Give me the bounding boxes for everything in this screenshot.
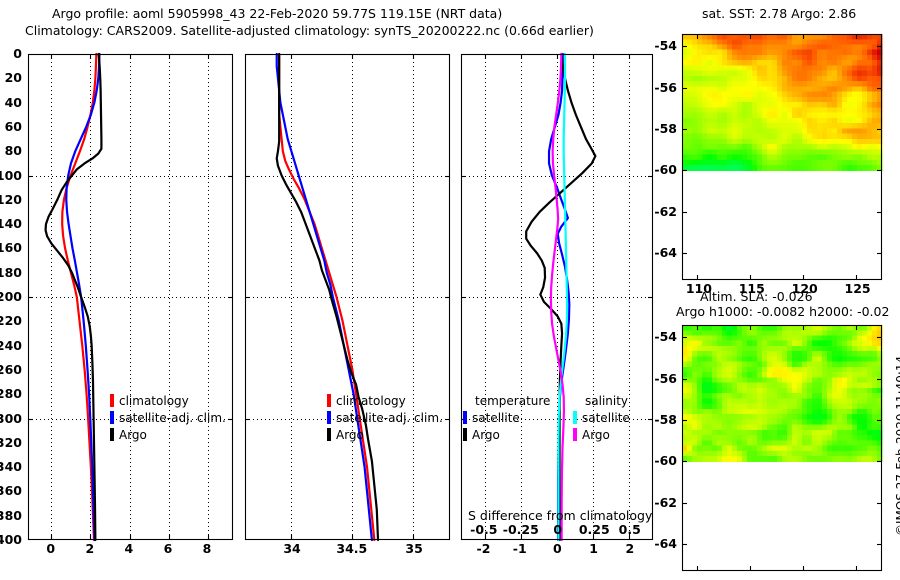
map-cell (767, 97, 773, 103)
map-cell (737, 435, 743, 441)
map-cell (807, 92, 813, 98)
map-cell (832, 118, 838, 124)
sla-map-title-line2: Argo h1000: -0.0082 h2000: -0.02 (676, 304, 889, 319)
map-cell (862, 92, 868, 98)
map-cell (852, 451, 858, 457)
x-tick-label: 34 (283, 541, 300, 556)
map-cell (702, 81, 708, 87)
map-cell (712, 356, 718, 362)
map-cell (742, 113, 748, 119)
map-cell (837, 367, 843, 373)
map-cell (692, 144, 698, 150)
map-cell (737, 398, 743, 404)
map-cell (772, 414, 778, 420)
map-cell (727, 139, 733, 145)
map-cell (757, 39, 763, 45)
map-cell (752, 425, 758, 431)
map-cell (847, 388, 853, 394)
map-cell (872, 113, 878, 119)
map-cell (717, 330, 723, 336)
map-cell (747, 336, 753, 342)
map-cell (872, 393, 878, 399)
map-cell (852, 160, 858, 166)
map-cell (687, 160, 693, 166)
map-y-tick-label: -60 (654, 453, 677, 468)
map-cell (872, 60, 878, 66)
map-cell (712, 160, 718, 166)
map-cell (827, 155, 833, 161)
map-cell (762, 388, 768, 394)
map-cell (692, 330, 698, 336)
map-cell (707, 456, 713, 462)
map-cell (787, 356, 793, 362)
map-cell (777, 388, 783, 394)
map-cell (697, 430, 703, 436)
map-cell (752, 456, 758, 462)
map-cell (832, 388, 838, 394)
map-cell (807, 383, 813, 389)
map-cell (687, 388, 693, 394)
sst-map-title: sat. SST: 2.78 Argo: 2.86 (702, 6, 856, 21)
map-cell (827, 425, 833, 431)
map-cell (727, 118, 733, 124)
map-cell (862, 398, 868, 404)
map-cell (862, 81, 868, 87)
map-cell (762, 346, 768, 352)
map-cell (802, 39, 808, 45)
map-cell (857, 372, 863, 378)
map-cell (722, 393, 728, 399)
map-cell (687, 419, 693, 425)
map-cell (867, 456, 873, 462)
map-cell (802, 55, 808, 61)
map-cell (737, 50, 743, 56)
map-cell (852, 398, 858, 404)
map-cell (767, 102, 773, 108)
map-cell (812, 336, 818, 342)
map-cell (832, 398, 838, 404)
page-title-line2: Climatology: CARS2009. Satellite-adjuste… (25, 23, 594, 38)
map-cell (802, 60, 808, 66)
map-cell (797, 60, 803, 66)
map-cell (872, 372, 878, 378)
map-cell (742, 65, 748, 71)
map-cell (712, 351, 718, 357)
map-cell (812, 97, 818, 103)
map-cell (782, 113, 788, 119)
map-cell (832, 351, 838, 357)
map-cell (712, 113, 718, 119)
map-cell (702, 165, 708, 171)
map-cell (687, 45, 693, 51)
map-cell (732, 65, 738, 71)
map-cell (707, 60, 713, 66)
map-cell (802, 160, 808, 166)
map-cell (772, 446, 778, 452)
map-cell (772, 134, 778, 140)
map-cell (697, 336, 703, 342)
map-cell (757, 393, 763, 399)
map-cell (842, 39, 848, 45)
map-cell (827, 113, 833, 119)
map-cell (697, 76, 703, 82)
map-cell (772, 383, 778, 389)
map-cell (837, 430, 843, 436)
map-cell (817, 440, 823, 446)
map-cell (747, 165, 753, 171)
map-cell (797, 367, 803, 373)
map-cell (812, 430, 818, 436)
map-cell (862, 144, 868, 150)
map-cell (872, 45, 878, 51)
map-cell (727, 86, 733, 92)
map-cell (837, 123, 843, 129)
map-cell (847, 404, 853, 410)
map-cell (822, 425, 828, 431)
map-cell (767, 446, 773, 452)
map-cell (797, 71, 803, 77)
map-cell (812, 356, 818, 362)
page-title-line1: Argo profile: aoml 5905998_43 22-Feb-202… (52, 6, 502, 21)
map-cell (832, 160, 838, 166)
map-cell (717, 160, 723, 166)
map-cell (837, 372, 843, 378)
map-cell (807, 160, 813, 166)
y-tick-label: 140 (0, 216, 22, 231)
map-cell (782, 336, 788, 342)
map-cell (717, 351, 723, 357)
map-cell (792, 128, 798, 134)
map-cell (862, 50, 868, 56)
map-cell (692, 456, 698, 462)
map-cell (847, 123, 853, 129)
map-cell (772, 97, 778, 103)
map-cell (737, 377, 743, 383)
map-cell (727, 362, 733, 368)
map-cell (847, 383, 853, 389)
map-cell (812, 113, 818, 119)
legend-item: satellite-adj. clim. (327, 411, 443, 425)
map-cell (872, 435, 878, 441)
map-cell (872, 446, 878, 452)
map-cell (697, 139, 703, 145)
map-cell (852, 356, 858, 362)
map-cell (787, 123, 793, 129)
map-cell (852, 377, 858, 383)
map-cell (847, 336, 853, 342)
map-cell (802, 430, 808, 436)
map-cell (732, 60, 738, 66)
map-cell (872, 451, 878, 457)
map-cell (842, 144, 848, 150)
map-cell (797, 341, 803, 347)
legend-color-swatch (110, 428, 114, 441)
map-cell (817, 139, 823, 145)
map-cell (752, 330, 758, 336)
map-cell (787, 107, 793, 113)
map-cell (697, 341, 703, 347)
map-cell (737, 356, 743, 362)
map-cell (807, 65, 813, 71)
map-cell (787, 388, 793, 394)
map-cell (702, 60, 708, 66)
map-cell (812, 419, 818, 425)
map-cell (702, 113, 708, 119)
map-cell (722, 128, 728, 134)
map-cell (782, 383, 788, 389)
map-cell (852, 165, 858, 171)
map-cell (822, 149, 828, 155)
map-cell (757, 65, 763, 71)
map-cell (772, 367, 778, 373)
map-cell (707, 81, 713, 87)
map-cell (702, 388, 708, 394)
map-cell (687, 330, 693, 336)
map-cell (722, 425, 728, 431)
map-cell (762, 419, 768, 425)
map-cell (867, 65, 873, 71)
map-cell (807, 123, 813, 129)
map-cell (812, 92, 818, 98)
map-cell (812, 149, 818, 155)
map-cell (757, 356, 763, 362)
map-cell (872, 76, 878, 82)
map-cell (802, 362, 808, 368)
map-cell (722, 372, 728, 378)
map-cell (787, 165, 793, 171)
map-cell (742, 45, 748, 51)
map-cell (732, 81, 738, 87)
map-cell (867, 383, 873, 389)
map-cell (852, 446, 858, 452)
map-cell (847, 393, 853, 399)
map-cell (752, 398, 758, 404)
map-cell (847, 76, 853, 82)
map-cell (717, 341, 723, 347)
map-cell (812, 341, 818, 347)
map-cell (712, 430, 718, 436)
map-cell (687, 398, 693, 404)
map-cell (792, 388, 798, 394)
map-cell (767, 435, 773, 441)
map-cell (817, 435, 823, 441)
map-cell (827, 92, 833, 98)
map-cell (762, 118, 768, 124)
map-cell (807, 118, 813, 124)
map-cell (762, 440, 768, 446)
map-cell (832, 144, 838, 150)
map-cell (757, 139, 763, 145)
map-cell (777, 430, 783, 436)
map-cell (717, 372, 723, 378)
map-cell (762, 65, 768, 71)
map-cell (772, 356, 778, 362)
map-cell (737, 330, 743, 336)
map-cell (817, 341, 823, 347)
map-cell (712, 362, 718, 368)
map-cell (857, 362, 863, 368)
map-cell (837, 393, 843, 399)
map-cell (757, 398, 763, 404)
map-cell (802, 356, 808, 362)
map-cell (857, 155, 863, 161)
map-cell (792, 419, 798, 425)
map-cell (747, 388, 753, 394)
map-cell (692, 118, 698, 124)
map-cell (832, 451, 838, 457)
map-cell (757, 414, 763, 420)
map-cell (752, 107, 758, 113)
map-cell (787, 71, 793, 77)
map-cell (777, 102, 783, 108)
map-cell (852, 367, 858, 373)
map-cell (712, 440, 718, 446)
map-cell (857, 55, 863, 61)
map-cell (787, 404, 793, 410)
map-cell (687, 414, 693, 420)
y-tick-label: 340 (0, 459, 22, 474)
map-cell (797, 165, 803, 171)
legend-label: climatology (119, 394, 189, 408)
map-cell (777, 404, 783, 410)
map-cell (737, 351, 743, 357)
map-cell (737, 446, 743, 452)
map-cell (787, 383, 793, 389)
map-cell (862, 414, 868, 420)
map-cell (757, 435, 763, 441)
map-cell (707, 435, 713, 441)
map-cell (832, 165, 838, 171)
map-cell (752, 372, 758, 378)
map-cell (692, 60, 698, 66)
map-cell (782, 45, 788, 51)
map-cell (832, 97, 838, 103)
map-cell (807, 155, 813, 161)
map-cell (712, 123, 718, 129)
map-cell (707, 393, 713, 399)
map-cell (712, 451, 718, 457)
map-cell (857, 351, 863, 357)
map-cell (762, 50, 768, 56)
map-cell (852, 134, 858, 140)
map-cell (837, 398, 843, 404)
map-cell (852, 341, 858, 347)
map-cell (842, 430, 848, 436)
map-cell (692, 377, 698, 383)
map-cell (752, 367, 758, 373)
map-cell (707, 39, 713, 45)
map-cell (832, 435, 838, 441)
map-cell (692, 346, 698, 352)
map-cell (737, 123, 743, 129)
map-cell (777, 92, 783, 98)
map-cell (757, 451, 763, 457)
map-cell (842, 134, 848, 140)
map-cell (787, 430, 793, 436)
map-cell (867, 71, 873, 77)
map-cell (762, 139, 768, 145)
map-cell (757, 144, 763, 150)
map-cell (837, 134, 843, 140)
map-cell (722, 160, 728, 166)
map-cell (797, 139, 803, 145)
map-cell (812, 134, 818, 140)
map-cell (842, 440, 848, 446)
map-cell (777, 356, 783, 362)
map-cell (817, 107, 823, 113)
map-cell (737, 144, 743, 150)
map-cell (827, 139, 833, 145)
map-cell (747, 446, 753, 452)
map-cell (802, 123, 808, 129)
map-cell (702, 55, 708, 61)
map-cell (697, 102, 703, 108)
map-cell (832, 39, 838, 45)
map-cell (782, 107, 788, 113)
map-cell (737, 118, 743, 124)
map-cell (772, 50, 778, 56)
map-cell (822, 128, 828, 134)
map-cell (702, 341, 708, 347)
map-cell (767, 149, 773, 155)
map-cell (762, 60, 768, 66)
map-cell (767, 351, 773, 357)
map-cell (792, 118, 798, 124)
map-cell (752, 351, 758, 357)
map-cell (762, 134, 768, 140)
map-cell (697, 414, 703, 420)
map-cell (732, 351, 738, 357)
map-cell (842, 435, 848, 441)
map-cell (757, 440, 763, 446)
map-cell (807, 50, 813, 56)
map-cell (717, 81, 723, 87)
map-cell (872, 351, 878, 357)
map-cell (872, 71, 878, 77)
map-cell (802, 393, 808, 399)
sst-map-panel (682, 34, 882, 280)
map-cell (762, 155, 768, 161)
map-cell (737, 81, 743, 87)
map-cell (792, 65, 798, 71)
map-cell (792, 102, 798, 108)
legend-item: climatology (327, 394, 406, 408)
map-cell (727, 341, 733, 347)
map-cell (712, 346, 718, 352)
map-cell (782, 341, 788, 347)
map-cell (692, 388, 698, 394)
map-cell (832, 372, 838, 378)
map-cell (717, 409, 723, 415)
map-cell (697, 45, 703, 51)
map-cell (777, 372, 783, 378)
map-cell (812, 393, 818, 399)
map-cell (722, 139, 728, 145)
map-cell (872, 404, 878, 410)
map-cell (772, 45, 778, 51)
map-cell (797, 351, 803, 357)
map-cell (737, 414, 743, 420)
map-cell (737, 139, 743, 145)
map-cell (777, 414, 783, 420)
legend-item: Argo (110, 428, 147, 442)
y-tick-label: 300 (0, 411, 22, 426)
map-cell (817, 97, 823, 103)
map-cell (732, 71, 738, 77)
map-cell (797, 45, 803, 51)
map-cell (857, 435, 863, 441)
map-cell (827, 372, 833, 378)
